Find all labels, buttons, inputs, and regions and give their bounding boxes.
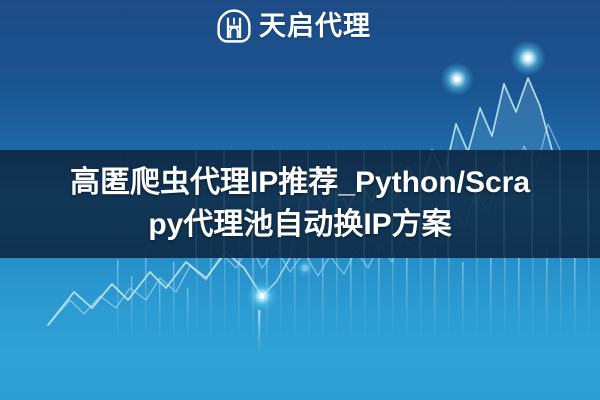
promo-banner: 天启代理 高匿爬虫代理IP推荐_Python/Scra py代理池自动换IP方案 xyxy=(0,0,600,400)
brand-logo[interactable]: 天启代理 xyxy=(216,6,371,46)
glow-node xyxy=(440,62,474,96)
title-line-1: 高匿爬虫代理IP推荐_Python/Scra xyxy=(70,163,530,203)
glow-node-core xyxy=(525,55,531,61)
title-line-2: py代理池自动换IP方案 xyxy=(148,205,451,245)
tianqi-circle-emblem-icon xyxy=(216,8,252,44)
glow-node xyxy=(296,259,314,277)
brand-wordmark: 天启代理 xyxy=(259,13,371,40)
chart-line-main xyxy=(48,252,262,325)
glow-node xyxy=(246,280,278,312)
glow-node xyxy=(510,40,546,76)
glow-node-core xyxy=(454,76,460,82)
glow-node-core xyxy=(259,293,264,298)
banner-title: 高匿爬虫代理IP推荐_Python/Scra py代理池自动换IP方案 xyxy=(0,150,600,258)
